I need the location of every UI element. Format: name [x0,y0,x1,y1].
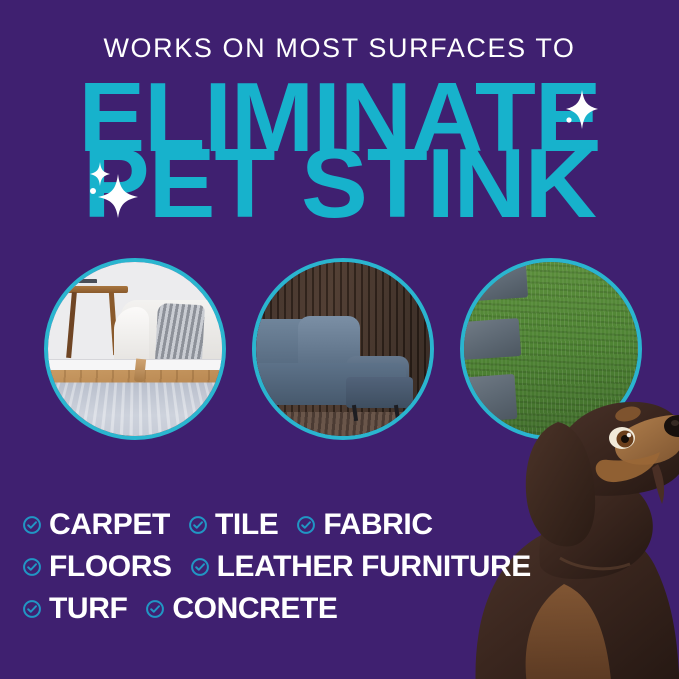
surface-row: TURF CONCRETE [22,588,492,630]
check-circle-icon [190,557,210,577]
scene-turf [464,262,638,436]
check-circle-icon [188,515,208,535]
surface-label: CONCRETE [172,594,337,624]
promo-poster: WORKS ON MOST SURFACES TO ELIMINATE PET … [0,0,679,679]
eyebrow-text: WORKS ON MOST SURFACES TO [0,33,679,64]
surface-item-turf: TURF [22,594,127,624]
surface-item-carpet: CARPET [22,510,170,540]
scene-living-room [48,262,222,436]
surface-label: LEATHER FURNITURE [217,552,531,582]
surface-row: CARPET TILE FABRIC [22,504,492,546]
surface-label: FLOORS [49,552,172,582]
check-circle-icon [145,599,165,619]
surface-item-tile: TILE [188,510,278,540]
photo-circle-carpet [44,258,226,440]
photo-circle-turf [460,258,642,440]
surface-item-leather-furniture: LEATHER FURNITURE [190,552,531,582]
surface-row: FLOORS LEATHER FURNITURE [22,546,492,588]
check-circle-icon [22,515,42,535]
scene-fabric-sofa [256,262,430,436]
surface-label: TILE [215,510,278,540]
photo-circle-fabric [252,258,434,440]
surface-item-floors: FLOORS [22,552,172,582]
surface-label: FABRIC [323,510,432,540]
surface-item-fabric: FABRIC [296,510,432,540]
headline-line-2: PET STINK [0,138,679,228]
surface-list: CARPET TILE FABRIC [22,504,492,630]
surface-label: TURF [49,594,127,624]
check-circle-icon [22,557,42,577]
check-circle-icon [296,515,316,535]
surface-item-concrete: CONCRETE [145,594,337,624]
check-circle-icon [22,599,42,619]
surface-label: CARPET [49,510,170,540]
